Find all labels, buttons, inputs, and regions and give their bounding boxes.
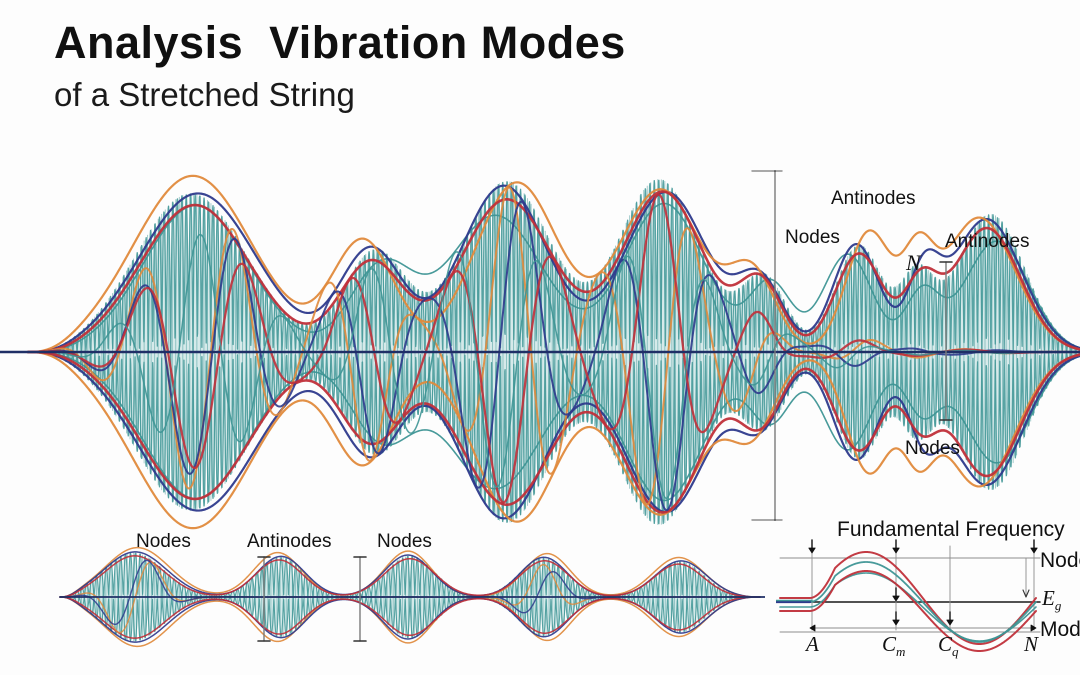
xtick-cq-base: C (938, 632, 952, 656)
label-bl-nodes-right: Nodes (377, 531, 432, 553)
label-antinodes-right: Antinodes (945, 231, 1030, 253)
xtick-cm-sub: m (896, 644, 905, 659)
label-bl-nodes-left: Nodes (136, 531, 191, 553)
label-nodes-lower: Nodes (905, 438, 960, 460)
br-bottom-arrow-right (1031, 625, 1036, 631)
main-waveform-plot (0, 0, 1080, 675)
energy-symbol: E (1042, 586, 1055, 610)
br-arrow-n-top-head (1031, 548, 1037, 553)
br-bottom-arrow-left (810, 625, 815, 631)
figure-root: Analysis Vibration Modes of a Stretched … (0, 0, 1080, 675)
br-arrow-a-top-head (809, 548, 815, 553)
br-arrow-cq-bottom-head (947, 620, 953, 625)
xtick-a: A (806, 632, 819, 657)
xtick-cm: Cm (882, 632, 905, 660)
main-waveform-svg (0, 0, 1080, 675)
xtick-n: N (1024, 632, 1038, 657)
label-energy-eg: Eg (1042, 586, 1061, 614)
label-fundamental-frequency: Fundamental Frequency (837, 518, 1065, 542)
label-bl-antinodes: Antinodes (247, 531, 332, 553)
xtick-cq: Cq (938, 632, 959, 660)
label-amplitude-n: N (906, 250, 921, 276)
bottom-left-curves (60, 548, 765, 647)
label-antinodes-center: Antinodes (831, 188, 916, 210)
label-nodes-upper: Nodes (785, 227, 840, 249)
br-arrow-cm-mid-head (893, 596, 899, 601)
xtick-cq-sub: q (952, 644, 959, 659)
main-curves (0, 176, 1080, 528)
xtick-cm-base: C (882, 632, 896, 656)
energy-subscript: g (1055, 598, 1062, 613)
br-arrow-cm-top-head (893, 548, 899, 553)
label-br-modes: Mod (1040, 618, 1080, 642)
br-arrow-cm-bottom-head (893, 620, 899, 625)
label-br-nodes: Node (1040, 549, 1080, 573)
